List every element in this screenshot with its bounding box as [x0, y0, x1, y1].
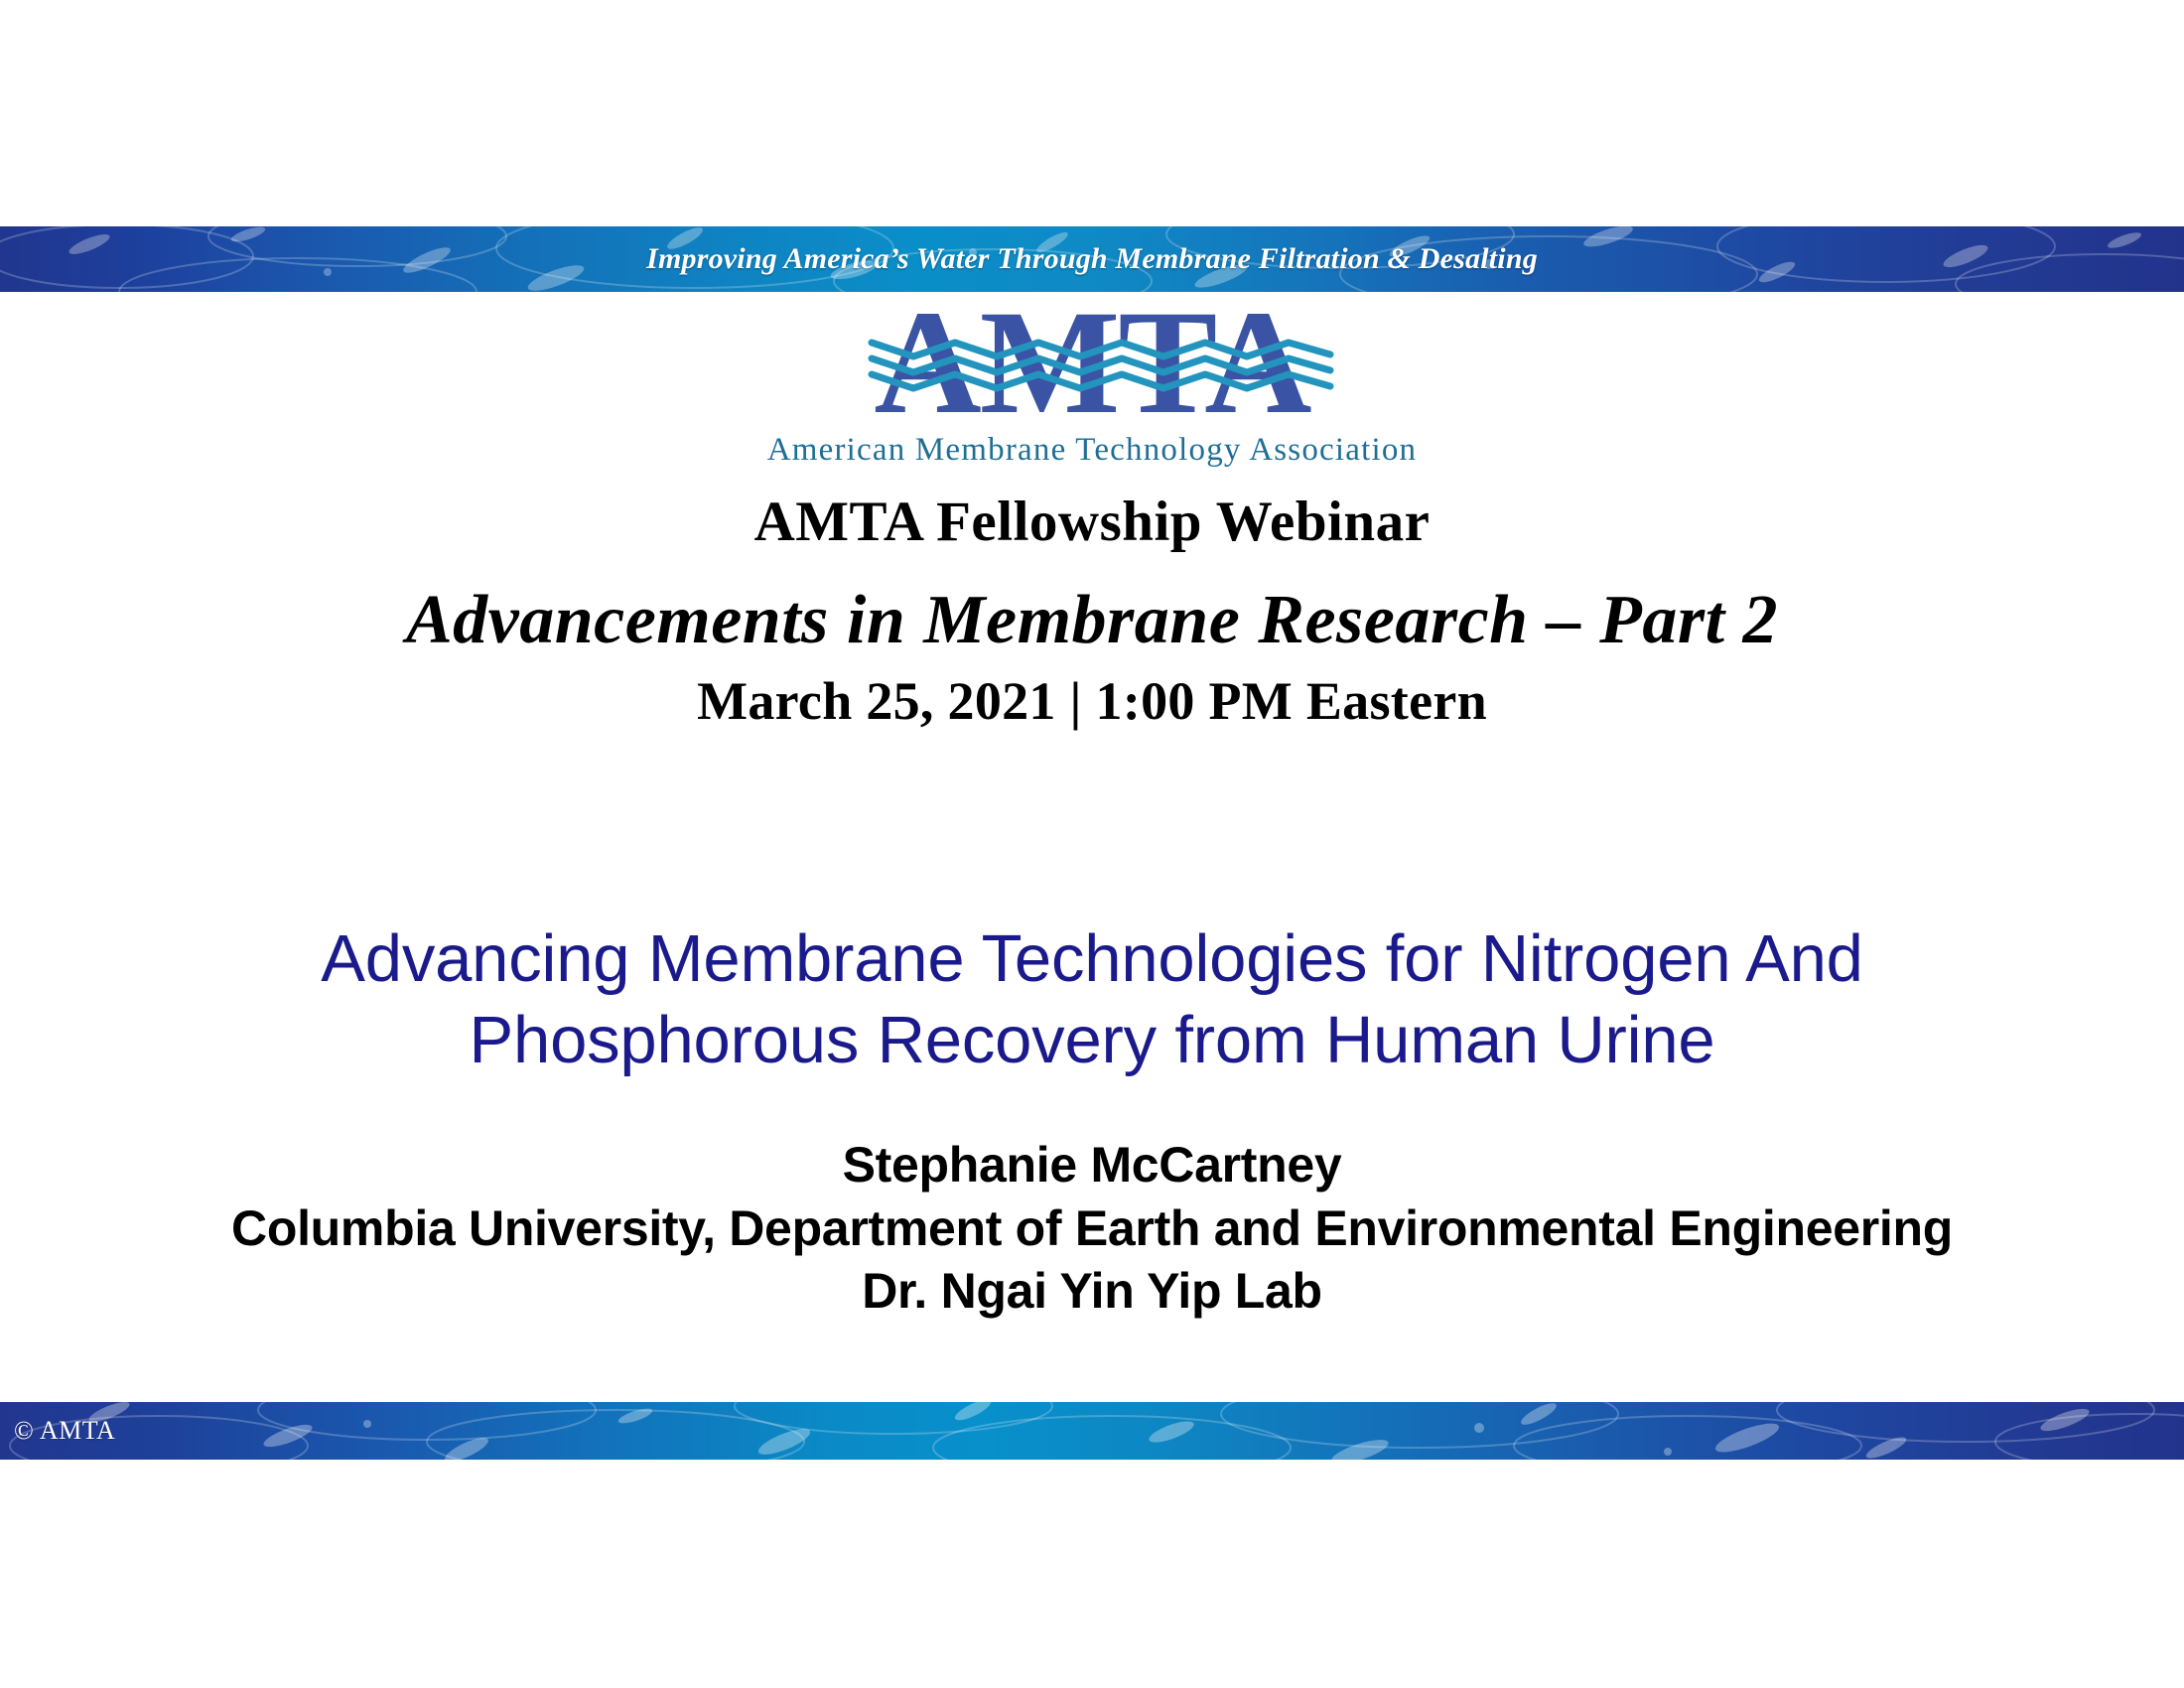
presenter-lab: Dr. Ngai Yin Yip Lab — [79, 1260, 2105, 1324]
amta-logo: AMTA American Membrane Technology Associ… — [0, 303, 2184, 469]
presenter-name: Stephanie McCartney — [79, 1134, 2105, 1197]
webinar-series-heading: AMTA Fellowship Webinar — [0, 490, 2184, 554]
presenter-affiliation: Columbia University, Department of Earth… — [79, 1197, 2105, 1261]
footer-copyright: © AMTA — [14, 1402, 115, 1460]
amta-wordmark: AMTA — [874, 303, 1309, 422]
bubble-pattern-icon — [0, 1402, 2184, 1460]
presentation-slide: Improving America’s Water Through Membra… — [0, 0, 2184, 1688]
presentation-title-line-1: Advancing Membrane Technologies for Nitr… — [321, 921, 1862, 996]
footer-banner — [0, 1402, 2184, 1460]
webinar-datetime: March 25, 2021 | 1:00 PM Eastern — [0, 670, 2184, 732]
presentation-title: Advancing Membrane Technologies for Nitr… — [149, 918, 2035, 1080]
presenter-block: Stephanie McCartney Columbia University,… — [79, 1134, 2105, 1324]
presentation-title-line-2: Phosphorous Recovery from Human Urine — [470, 1003, 1715, 1077]
webinar-title: Advancements in Membrane Research – Part… — [0, 581, 2184, 660]
amta-logo-mark: AMTA — [874, 303, 1309, 422]
